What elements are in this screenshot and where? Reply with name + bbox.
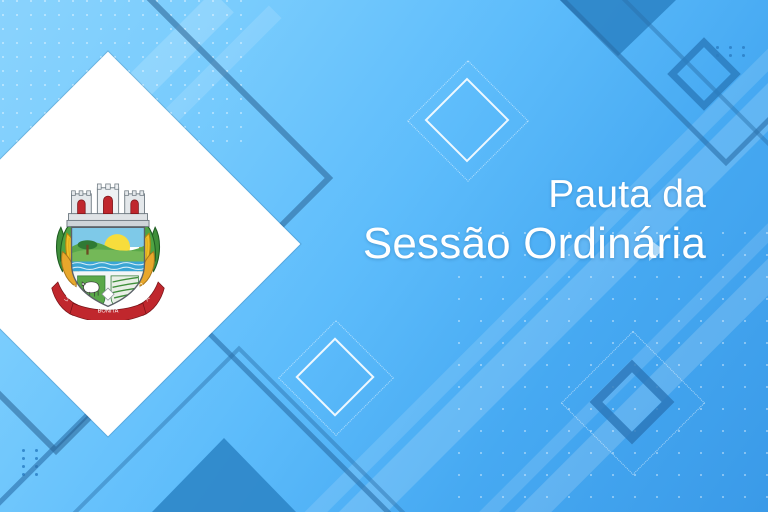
ribbon-right-text: DO SUL <box>136 282 151 302</box>
corner-triangle-bottom-left <box>152 438 296 512</box>
mural-crown-icon <box>67 184 149 227</box>
dot-cluster-bottom-left <box>22 449 43 476</box>
ribbon-left-text: LAGOA <box>63 283 77 302</box>
emblem-inner: LAGOA BONITA DO SUL <box>0 108 244 380</box>
chevron-line-top-right <box>514 0 768 166</box>
diamond-outline-bottom-center <box>295 337 374 416</box>
diamond-dark-bottom-right <box>590 360 675 445</box>
dot-cluster-top-right <box>716 46 750 57</box>
emblem-panel: LAGOA BONITA DO SUL <box>0 52 300 437</box>
coat-of-arms-icon: LAGOA BONITA DO SUL <box>32 168 184 320</box>
diamond-dotted-bottom-right <box>561 331 705 475</box>
diamond-dark-top-right <box>667 37 741 111</box>
title-block: Pauta da Sessão Ordinária <box>363 172 706 270</box>
diamond-dotted-top-center <box>407 60 529 182</box>
page-title-line1: Pauta da <box>363 172 706 218</box>
diamond-outline-top-center <box>425 78 510 163</box>
title-arrow-icon <box>649 239 664 261</box>
corner-triangle-top-right <box>560 0 676 56</box>
shield-icon <box>72 227 145 312</box>
banner: LAGOA BONITA DO SUL Pauta da Sessão Ordi… <box>0 0 768 512</box>
diamond-dotted-bottom-center <box>278 320 394 436</box>
chevron-line-top-right-2 <box>556 0 768 146</box>
ribbon-center-text: BONITA <box>98 308 119 314</box>
